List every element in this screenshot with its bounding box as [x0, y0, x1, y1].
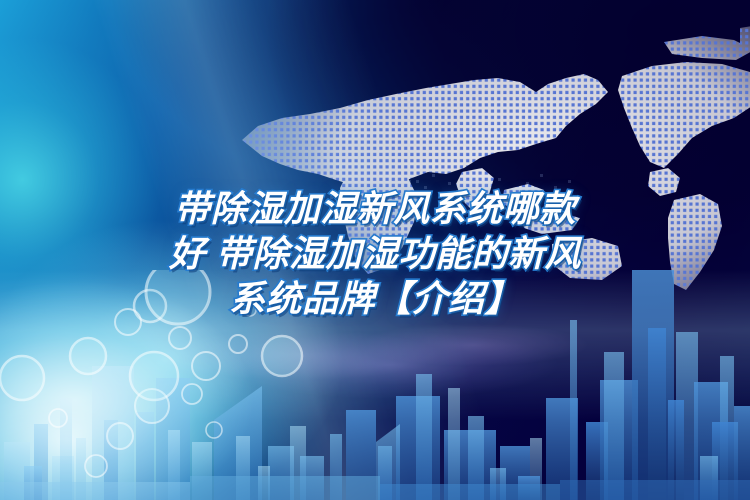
- headline-line-2: 好 带除湿加湿功能的新风: [0, 231, 750, 276]
- promo-banner: 带除湿加湿新风系统哪款 好 带除湿加湿功能的新风 系统品牌【介绍】: [0, 0, 750, 500]
- headline-block: 带除湿加湿新风系统哪款 好 带除湿加湿功能的新风 系统品牌【介绍】: [0, 186, 750, 321]
- headline-line-3: 系统品牌【介绍】: [0, 276, 750, 321]
- headline-line-1: 带除湿加湿新风系统哪款: [0, 186, 750, 231]
